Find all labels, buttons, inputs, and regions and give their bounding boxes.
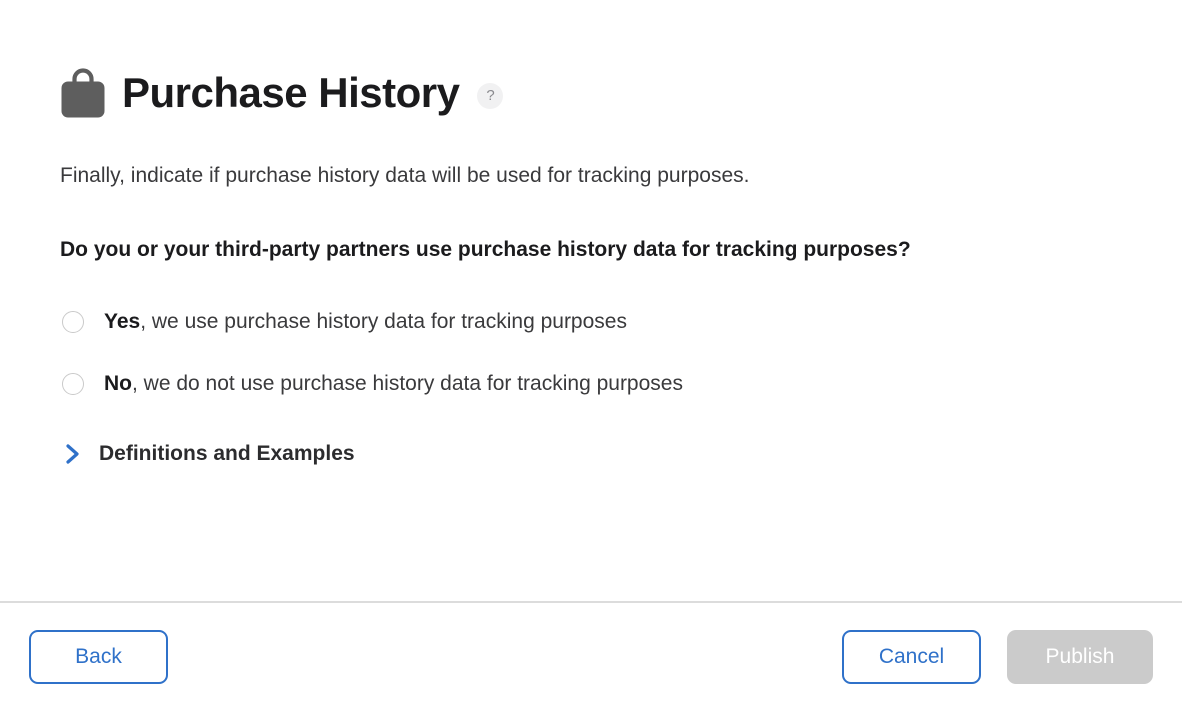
shopping-bag-icon [60, 67, 106, 119]
page-title: Purchase History [122, 72, 459, 114]
radio-group: Yes, we use purchase history data for tr… [60, 301, 1122, 405]
definitions-disclosure-label: Definitions and Examples [99, 442, 355, 466]
radio-label-no-emphasis: No [104, 372, 132, 395]
form-footer: Back Cancel Publish [0, 601, 1182, 710]
footer-actions: Cancel Publish [842, 630, 1153, 684]
radio-label-yes-rest: , we use purchase history data for track… [140, 310, 627, 333]
chevron-right-icon [65, 442, 81, 466]
question-label: Do you or your third-party partners use … [60, 236, 1122, 264]
radio-input-no[interactable] [62, 373, 84, 395]
back-button[interactable]: Back [29, 630, 168, 684]
radio-label-no-rest: , we do not use purchase history data fo… [132, 372, 683, 395]
radio-option-yes[interactable]: Yes, we use purchase history data for tr… [60, 301, 1122, 343]
form-content: Purchase History ? Finally, indicate if … [0, 0, 1182, 601]
radio-label-yes-emphasis: Yes [104, 310, 140, 333]
radio-label-yes: Yes, we use purchase history data for tr… [104, 309, 627, 334]
radio-label-no: No, we do not use purchase history data … [104, 371, 683, 396]
help-icon[interactable]: ? [477, 83, 503, 109]
definitions-disclosure[interactable]: Definitions and Examples [60, 437, 355, 471]
radio-option-no[interactable]: No, we do not use purchase history data … [60, 363, 1122, 405]
intro-text: Finally, indicate if purchase history da… [60, 162, 1122, 190]
purchase-history-form: Purchase History ? Finally, indicate if … [0, 0, 1182, 710]
publish-button[interactable]: Publish [1007, 630, 1153, 684]
page-header: Purchase History ? [60, 0, 1122, 124]
cancel-button[interactable]: Cancel [842, 630, 981, 684]
radio-input-yes[interactable] [62, 311, 84, 333]
